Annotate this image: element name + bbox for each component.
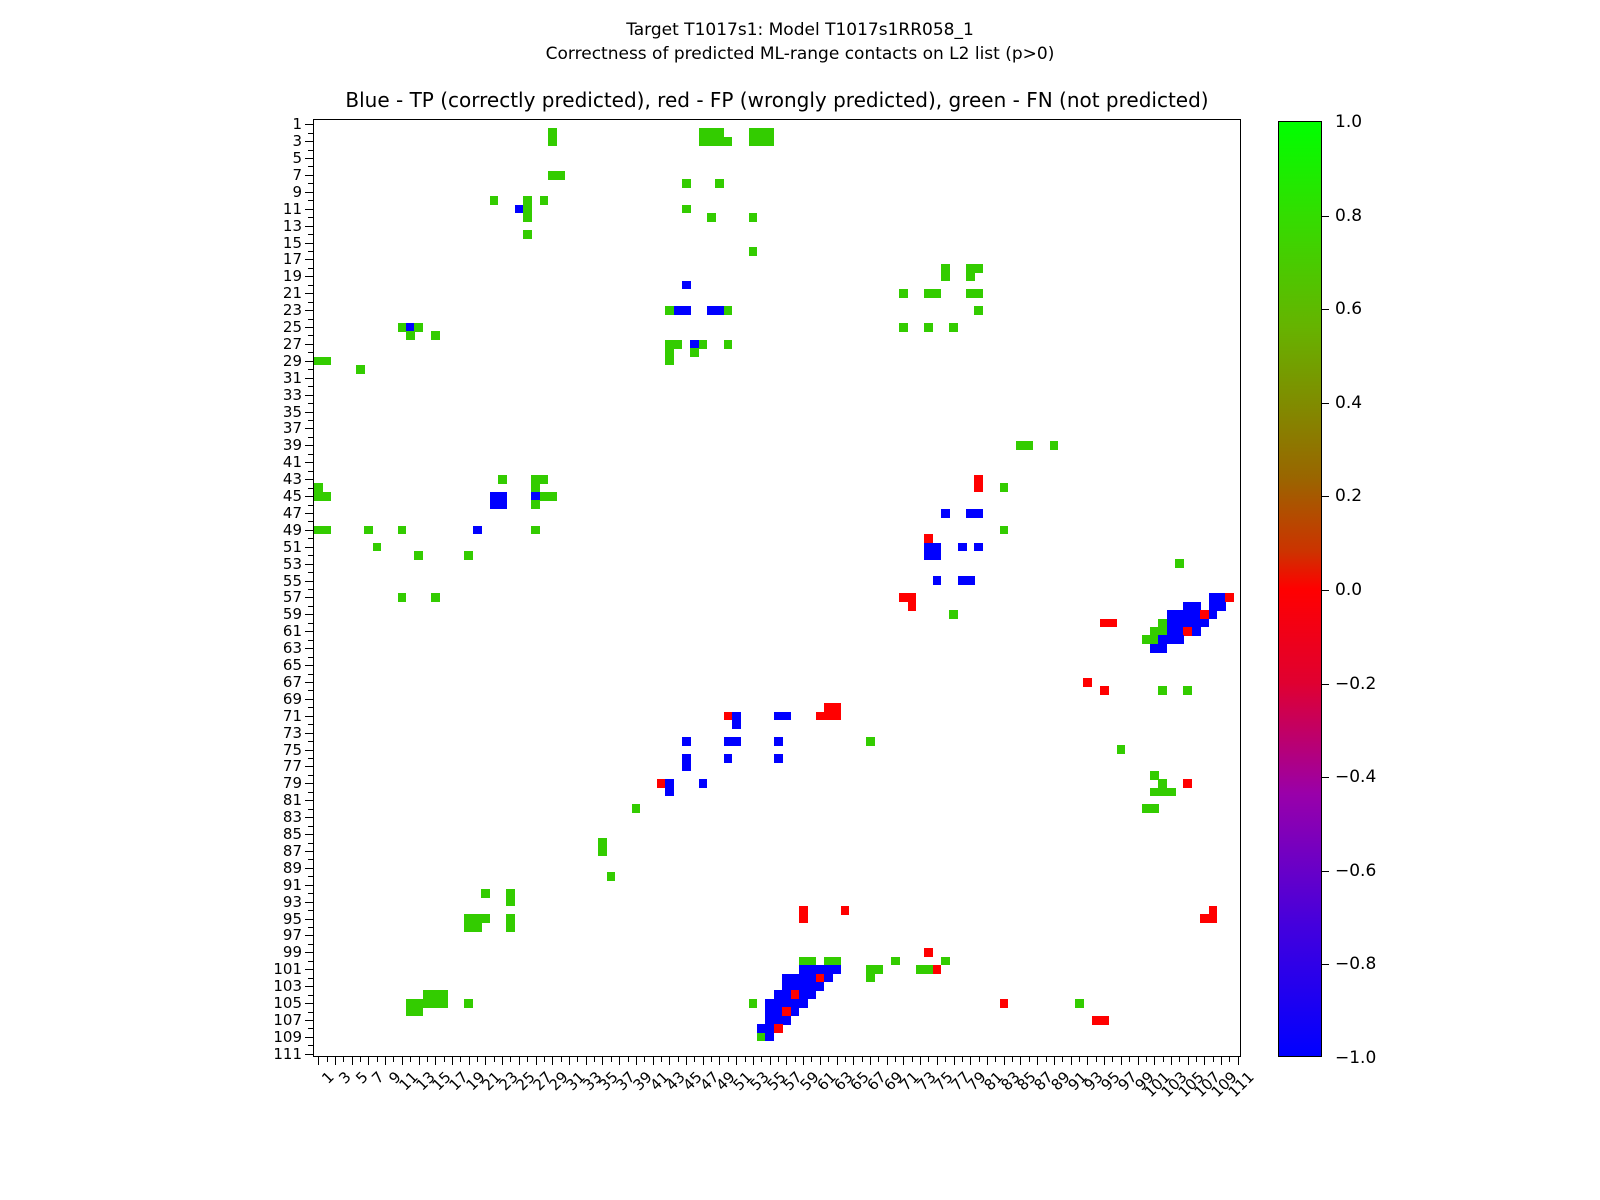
y-tick [308, 589, 314, 590]
y-tick [305, 378, 314, 379]
colorbar-tick [1321, 964, 1329, 965]
x-tick [1196, 1056, 1197, 1062]
y-tick [305, 935, 314, 936]
x-tick [694, 1056, 695, 1062]
x-tick [402, 1056, 403, 1065]
y-tick [308, 505, 314, 506]
y-tick-label: 109 [273, 1028, 302, 1046]
contact-cell [481, 914, 490, 923]
contact-cell [958, 543, 967, 552]
y-tick [305, 597, 314, 598]
contact-cell [556, 171, 565, 180]
y-tick-label: 5 [292, 149, 302, 167]
contact-cell [715, 179, 724, 188]
y-tick [308, 234, 314, 235]
x-tick [937, 1056, 938, 1065]
y-tick [305, 293, 314, 294]
x-tick [837, 1056, 838, 1065]
contact-cell [531, 526, 540, 535]
contact-cell [1158, 686, 1167, 695]
contact-cell [598, 847, 607, 856]
contact-cell [941, 957, 950, 966]
x-tick [1071, 1056, 1072, 1065]
y-tick [305, 192, 314, 193]
x-tick [954, 1056, 955, 1065]
y-tick [305, 158, 314, 159]
colorbar-tick-label: 1.0 [1335, 112, 1362, 132]
y-tick [308, 268, 314, 269]
y-tick [308, 792, 314, 793]
colorbar-tick [1321, 309, 1329, 310]
y-tick [305, 885, 314, 886]
contact-cell [749, 999, 758, 1008]
y-tick [305, 1003, 314, 1004]
contact-cell [364, 526, 373, 535]
contact-cell [1217, 602, 1226, 611]
y-tick [308, 319, 314, 320]
y-tick-label: 13 [283, 217, 302, 235]
x-tick [1229, 1056, 1230, 1062]
contact-cell [749, 213, 758, 222]
x-tick [1046, 1056, 1047, 1062]
y-tick-label: 61 [283, 622, 302, 640]
y-tick [308, 555, 314, 556]
y-tick [305, 175, 314, 176]
contact-cell [439, 999, 448, 1008]
contact-cell [891, 957, 900, 966]
x-tick [611, 1056, 612, 1062]
colorbar-tick-label: 0.4 [1335, 393, 1362, 413]
x-tick [385, 1056, 386, 1065]
y-tick-label: 101 [273, 960, 302, 978]
x-tick [1213, 1056, 1214, 1062]
y-tick-label: 51 [283, 538, 302, 556]
y-tick [308, 809, 314, 810]
x-tick [1029, 1056, 1030, 1062]
x-tick [485, 1056, 486, 1065]
y-tick-label: 41 [283, 453, 302, 471]
y-tick [308, 488, 314, 489]
y-tick-label: 85 [283, 825, 302, 843]
x-tick [903, 1056, 904, 1065]
x-tick [912, 1056, 913, 1062]
x-tick [1121, 1056, 1122, 1065]
contact-cell [724, 137, 733, 146]
y-tick [308, 572, 314, 573]
y-tick [305, 496, 314, 497]
y-tick [308, 674, 314, 675]
x-tick [1012, 1056, 1013, 1062]
x-tick [970, 1056, 971, 1065]
y-tick [308, 961, 314, 962]
y-tick [308, 707, 314, 708]
contact-cell [1000, 999, 1009, 1008]
colorbar-tick [1321, 777, 1329, 778]
y-tick-label: 21 [283, 284, 302, 302]
y-tick [308, 471, 314, 472]
y-tick-label: 45 [283, 487, 302, 505]
colorbar-tick-label: 0.8 [1335, 206, 1362, 226]
contact-cell [1075, 999, 1084, 1008]
contact-cell [774, 754, 783, 763]
y-tick-label: 19 [283, 267, 302, 285]
y-tick-label: 111 [273, 1045, 302, 1063]
y-tick-label: 17 [283, 250, 302, 268]
contact-cell [866, 974, 875, 983]
y-tick-label: 15 [283, 234, 302, 252]
contact-cell [765, 1033, 774, 1042]
x-tick [853, 1056, 854, 1065]
contact-cell [974, 306, 983, 315]
contact-cell [607, 872, 616, 881]
contact-cell [414, 1007, 423, 1016]
contact-cell [1150, 804, 1159, 813]
x-tick [586, 1056, 587, 1065]
y-tick [308, 538, 314, 539]
x-tick [945, 1056, 946, 1062]
contact-cell [841, 906, 850, 915]
x-tick [703, 1056, 704, 1065]
contact-cell [464, 999, 473, 1008]
y-tick-label: 31 [283, 369, 302, 387]
contact-cell [682, 762, 691, 771]
contact-cell [548, 492, 557, 501]
contact-cell [866, 737, 875, 746]
contact-cell [966, 576, 975, 585]
x-tick [1087, 1056, 1088, 1065]
y-tick-label: 107 [273, 1011, 302, 1029]
suptitle-line-2: Correctness of predicted ML-range contac… [0, 42, 1600, 66]
y-tick [308, 183, 314, 184]
y-tick [308, 606, 314, 607]
y-tick-label: 27 [283, 335, 302, 353]
y-tick-label: 53 [283, 555, 302, 573]
x-tick [653, 1056, 654, 1065]
y-tick-label: 39 [283, 436, 302, 454]
y-tick [308, 758, 314, 759]
y-tick [308, 927, 314, 928]
x-tick [569, 1056, 570, 1065]
x-tick [519, 1056, 520, 1065]
x-tick [887, 1056, 888, 1065]
x-tick [878, 1056, 879, 1062]
x-tick [1104, 1056, 1105, 1065]
x-tick-label: 1 [318, 1068, 337, 1087]
x-tick [962, 1056, 963, 1062]
y-tick-label: 67 [283, 673, 302, 691]
contact-cell [974, 509, 983, 518]
contact-cell [949, 323, 958, 332]
colorbar-tick [1321, 216, 1329, 217]
x-tick [1204, 1056, 1205, 1065]
y-tick [305, 243, 314, 244]
x-tick [1146, 1056, 1147, 1062]
contact-cell [974, 264, 983, 273]
contact-cell [908, 602, 917, 611]
x-tick [1096, 1056, 1097, 1062]
colorbar-tick [1321, 684, 1329, 685]
y-tick [308, 640, 314, 641]
axes-title-legend: Blue - TP (correctly predicted), red - F… [313, 88, 1241, 112]
x-tick [1188, 1056, 1189, 1065]
contact-cell [1100, 686, 1109, 695]
x-tick [602, 1056, 603, 1065]
colorbar[interactable]: 1.00.80.60.40.20.0−0.2−0.4−0.6−0.8−1.0 [1278, 121, 1322, 1057]
x-tick [1020, 1056, 1021, 1065]
y-tick-label: 99 [283, 943, 302, 961]
x-tick [577, 1056, 578, 1062]
contact-cell [1158, 644, 1167, 653]
contact-cell [949, 610, 958, 619]
y-tick-label: 11 [283, 200, 302, 218]
contact-cell [682, 306, 691, 315]
x-tick [845, 1056, 846, 1062]
contact-cell [1083, 678, 1092, 687]
x-tick [619, 1056, 620, 1065]
figure-suptitle: Target T1017s1: Model T1017s1RR058_1 Cor… [0, 18, 1600, 66]
x-tick [803, 1056, 804, 1065]
contact-map-plot-area[interactable]: 1357911131517192123252729313335373941434… [313, 119, 1241, 1057]
colorbar-tick-label: 0.6 [1335, 299, 1362, 319]
y-tick [308, 826, 314, 827]
x-tick [745, 1056, 746, 1062]
y-tick [308, 166, 314, 167]
contact-cell [807, 990, 816, 999]
contact-cell [1200, 619, 1209, 628]
contact-cell [1209, 914, 1218, 923]
y-tick [305, 445, 314, 446]
contact-cell [707, 213, 716, 222]
y-tick-label: 57 [283, 588, 302, 606]
y-tick-label: 77 [283, 757, 302, 775]
x-tick [327, 1056, 328, 1062]
contact-cell [974, 543, 983, 552]
y-tick-label: 7 [292, 166, 302, 184]
x-tick [435, 1056, 436, 1065]
x-tick [343, 1056, 344, 1062]
y-tick [308, 352, 314, 353]
y-tick [305, 327, 314, 328]
contact-cell [782, 712, 791, 721]
contact-cell [665, 788, 674, 797]
contact-cell [699, 340, 708, 349]
y-tick [305, 868, 314, 869]
contact-cell [933, 551, 942, 560]
y-tick [308, 1012, 314, 1013]
y-tick [305, 141, 314, 142]
y-tick [305, 412, 314, 413]
y-tick [308, 690, 314, 691]
y-tick [308, 944, 314, 945]
y-tick [305, 952, 314, 953]
contact-cell [373, 543, 382, 552]
y-tick [305, 479, 314, 480]
y-tick [308, 995, 314, 996]
y-tick-label: 9 [292, 183, 302, 201]
y-tick-label: 47 [283, 504, 302, 522]
y-tick [305, 817, 314, 818]
x-tick [636, 1056, 637, 1065]
colorbar-tick [1321, 590, 1329, 591]
x-tick [628, 1056, 629, 1062]
y-tick [308, 623, 314, 624]
x-tick [987, 1056, 988, 1065]
y-tick-label: 103 [273, 977, 302, 995]
contact-cell [322, 357, 331, 366]
x-tick [1037, 1056, 1038, 1065]
x-tick-label: 5 [352, 1068, 371, 1087]
y-tick [308, 893, 314, 894]
contact-cell [974, 483, 983, 492]
contact-cell [1183, 686, 1192, 695]
y-tick-label: 37 [283, 419, 302, 437]
x-tick [1171, 1056, 1172, 1065]
x-tick [594, 1056, 595, 1062]
y-tick [308, 876, 314, 877]
contact-cell [398, 526, 407, 535]
y-tick [305, 259, 314, 260]
y-tick-label: 23 [283, 301, 302, 319]
y-tick-label: 75 [283, 741, 302, 759]
x-tick [502, 1056, 503, 1065]
x-tick [469, 1056, 470, 1065]
x-tick [1004, 1056, 1005, 1065]
suptitle-line-1: Target T1017s1: Model T1017s1RR058_1 [0, 18, 1600, 42]
y-tick [308, 724, 314, 725]
contact-cell [1108, 619, 1117, 628]
y-tick [305, 209, 314, 210]
y-tick [308, 150, 314, 151]
y-tick [305, 395, 314, 396]
y-tick [305, 919, 314, 920]
contact-cell [774, 1024, 783, 1033]
contact-cell [682, 737, 691, 746]
contact-cell [481, 889, 490, 898]
x-tick [377, 1056, 378, 1062]
contact-cell [1000, 483, 1009, 492]
y-tick-label: 87 [283, 842, 302, 860]
contact-cell [1209, 610, 1218, 619]
y-tick-label: 25 [283, 318, 302, 336]
x-tick [1054, 1056, 1055, 1065]
x-tick [928, 1056, 929, 1062]
contact-cell [464, 551, 473, 560]
y-tick-label: 1 [292, 115, 302, 133]
contact-cell [322, 526, 331, 535]
y-tick [308, 437, 314, 438]
contact-cell [933, 965, 942, 974]
contact-cell [690, 348, 699, 357]
colorbar-tick-label: −0.2 [1335, 674, 1376, 694]
x-tick [552, 1056, 553, 1065]
y-tick [305, 1037, 314, 1038]
x-tick [561, 1056, 562, 1062]
x-tick [795, 1056, 796, 1062]
y-tick-label: 33 [283, 386, 302, 404]
x-tick [1062, 1056, 1063, 1062]
contact-cell [933, 289, 942, 298]
y-tick-label: 105 [273, 994, 302, 1012]
y-tick [305, 800, 314, 801]
colorbar-tick [1321, 496, 1329, 497]
y-tick [308, 251, 314, 252]
y-tick-label: 79 [283, 774, 302, 792]
contact-cell [732, 720, 741, 729]
y-tick [308, 741, 314, 742]
contact-cell [523, 230, 532, 239]
x-tick [895, 1056, 896, 1062]
contact-cell [414, 323, 423, 332]
y-tick [308, 657, 314, 658]
y-tick-label: 35 [283, 403, 302, 421]
colorbar-tick-label: −0.6 [1335, 861, 1376, 881]
y-tick [308, 217, 314, 218]
contact-cell [1183, 779, 1192, 788]
contact-cell [699, 779, 708, 788]
y-tick [308, 843, 314, 844]
y-tick [308, 285, 314, 286]
contact-cell [799, 999, 808, 1008]
x-tick [419, 1056, 420, 1065]
contact-cell [765, 137, 774, 146]
contact-cell [1117, 745, 1126, 754]
y-tick [305, 699, 314, 700]
y-tick-label: 43 [283, 470, 302, 488]
contact-cell [431, 331, 440, 340]
x-tick [427, 1056, 428, 1062]
contact-cell [899, 289, 908, 298]
x-tick [678, 1056, 679, 1062]
x-tick [778, 1056, 779, 1062]
y-tick [305, 276, 314, 277]
y-tick [305, 530, 314, 531]
contact-cell [1167, 788, 1176, 797]
y-tick-label: 59 [283, 605, 302, 623]
y-tick-label: 97 [283, 926, 302, 944]
contact-cell [506, 923, 515, 932]
y-tick [305, 834, 314, 835]
contact-cell [506, 897, 515, 906]
x-tick [644, 1056, 645, 1062]
contact-cell [724, 306, 733, 315]
y-tick [305, 783, 314, 784]
y-tick [305, 124, 314, 125]
x-tick-label: 7 [369, 1068, 388, 1087]
y-tick-label: 73 [283, 724, 302, 742]
x-tick-label: 3 [335, 1068, 354, 1087]
y-tick [305, 733, 314, 734]
x-tick [1079, 1056, 1080, 1062]
contact-cell [782, 1016, 791, 1025]
contact-cell [498, 500, 507, 509]
y-tick [305, 614, 314, 615]
x-tick [719, 1056, 720, 1065]
y-tick [308, 200, 314, 201]
x-tick [318, 1056, 319, 1065]
contact-cell [540, 475, 549, 484]
x-tick [352, 1056, 353, 1065]
x-tick [770, 1056, 771, 1065]
contact-cell [473, 526, 482, 535]
figure-canvas: Target T1017s1: Model T1017s1RR058_1 Cor… [0, 0, 1600, 1200]
y-tick [305, 1020, 314, 1021]
y-tick-label: 63 [283, 639, 302, 657]
contact-cell [406, 331, 415, 340]
x-tick [920, 1056, 921, 1065]
y-tick [308, 521, 314, 522]
y-tick [305, 969, 314, 970]
contact-cell [1225, 593, 1234, 602]
